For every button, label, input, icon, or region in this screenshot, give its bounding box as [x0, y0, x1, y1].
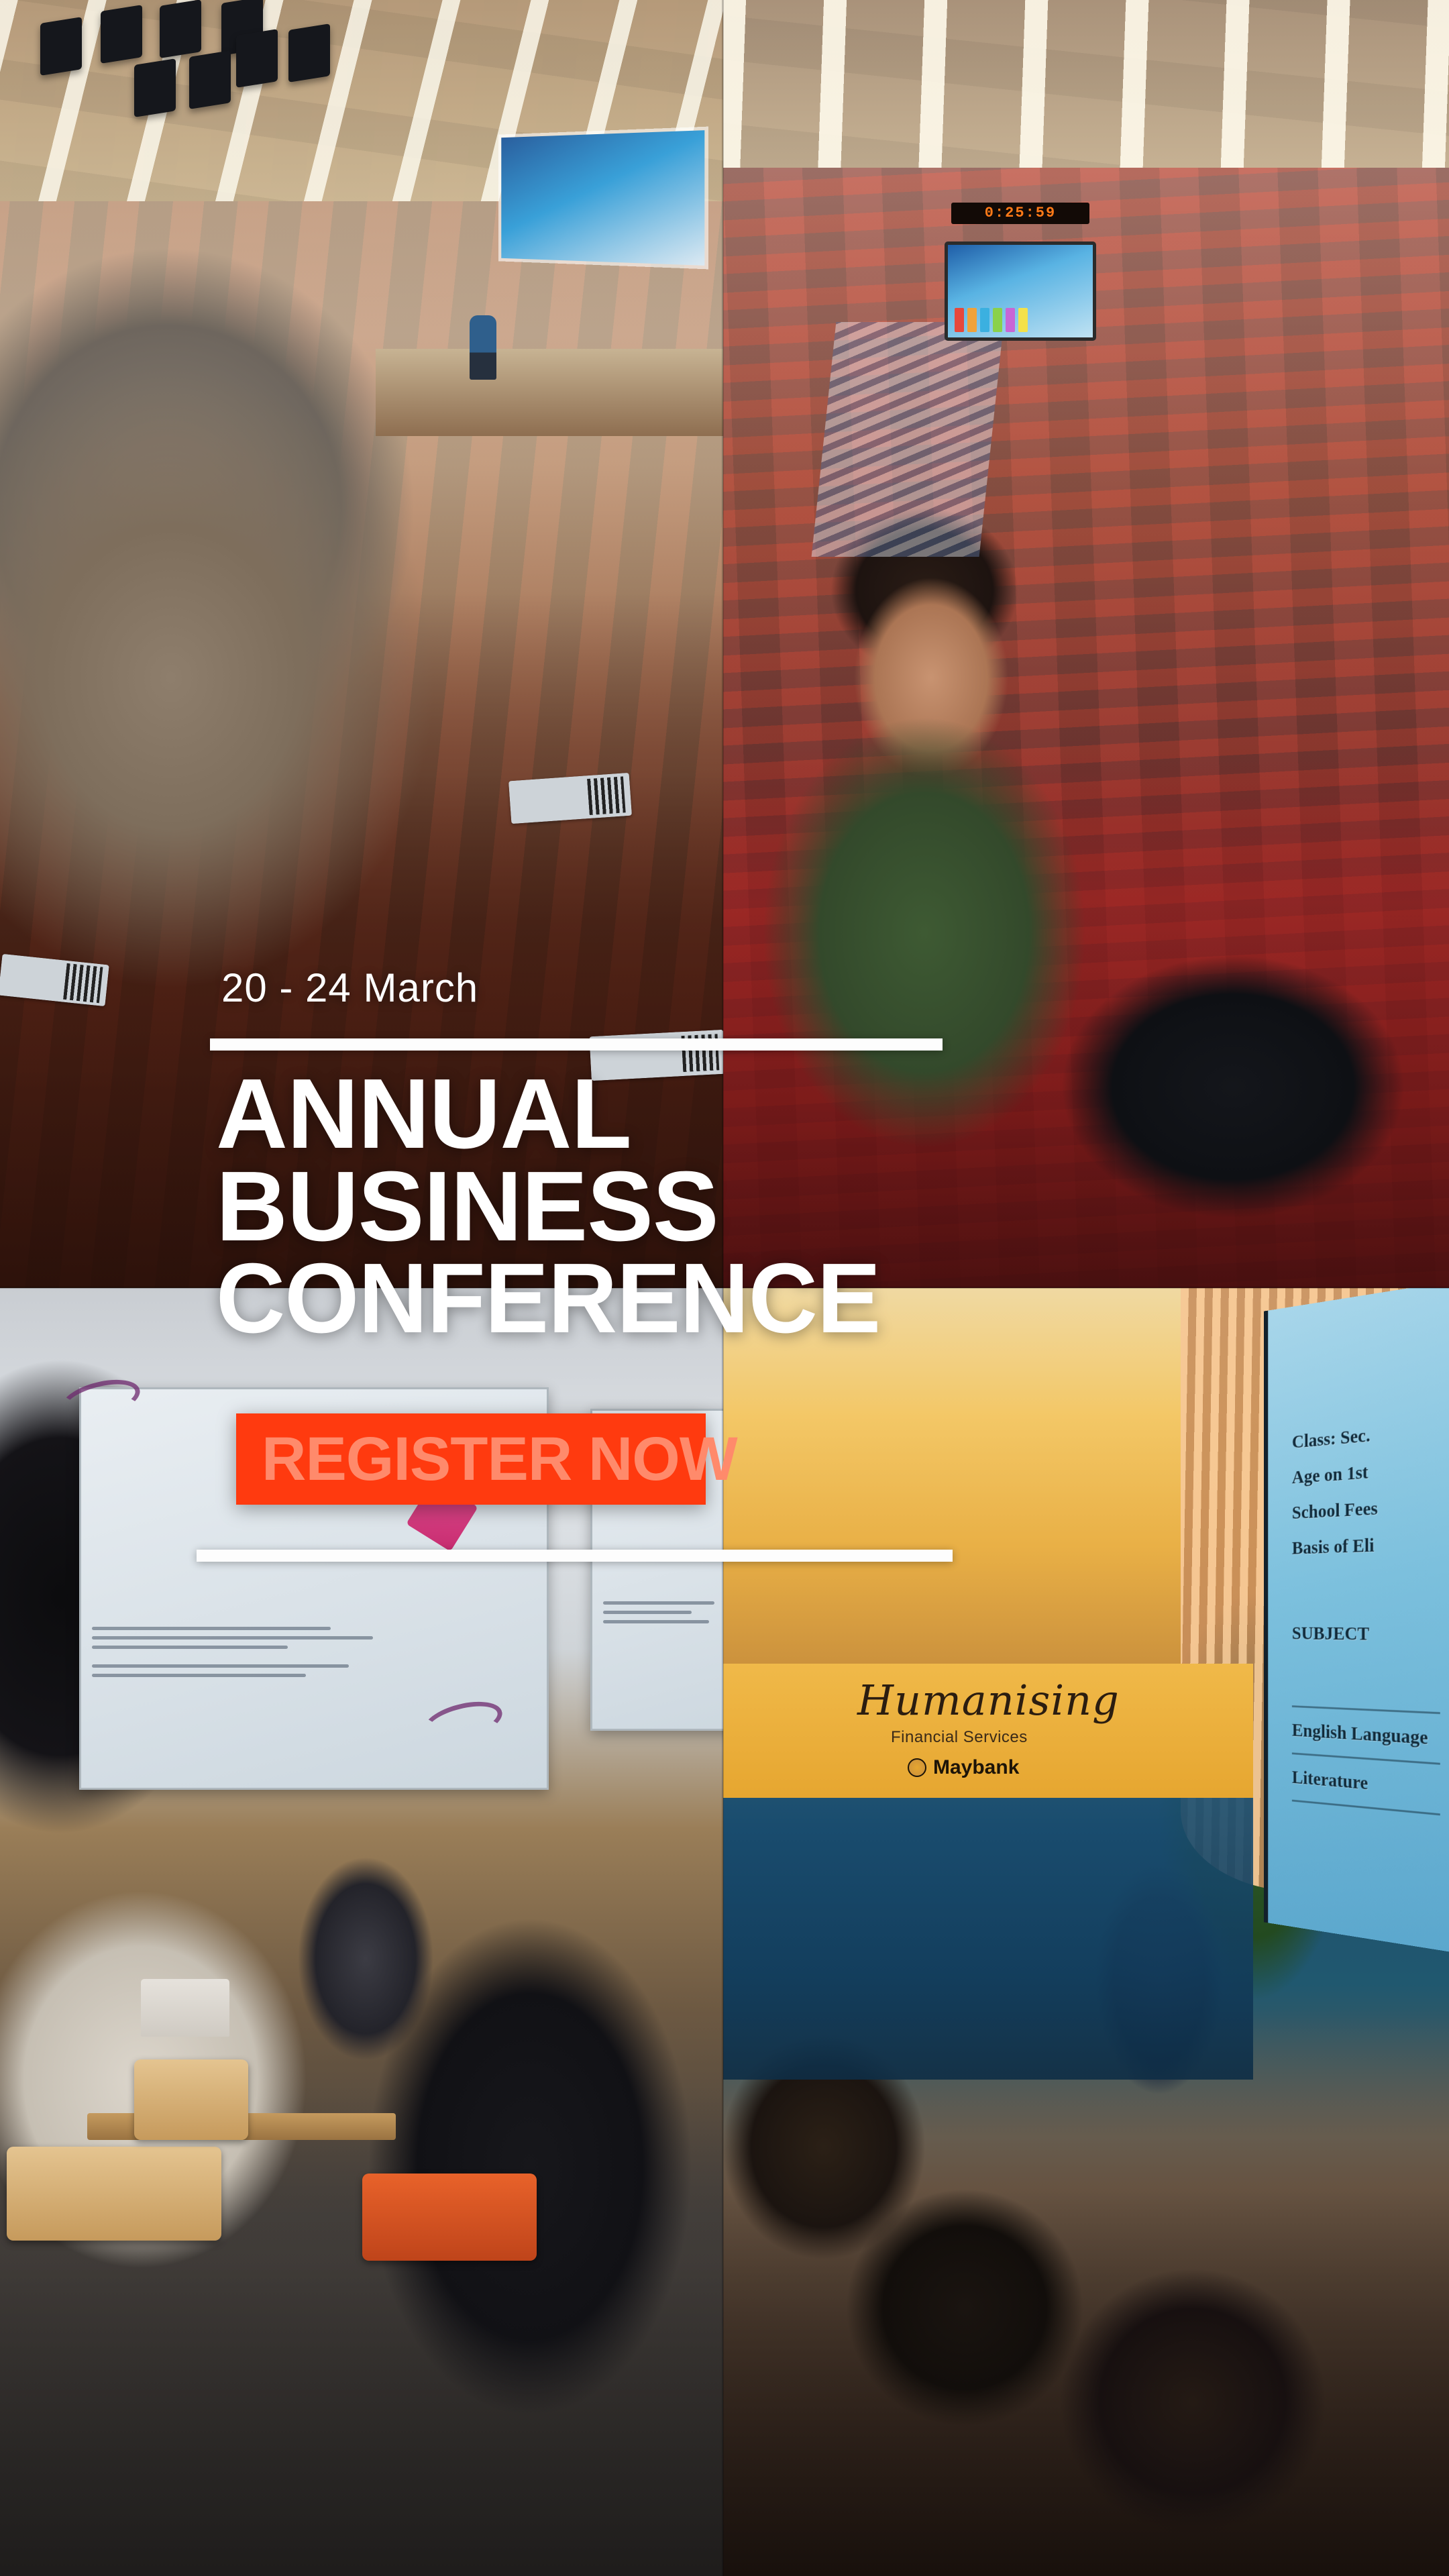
event-poster: 0:25:59 [0, 0, 1449, 2576]
seat-qr-card [508, 773, 632, 824]
ceiling-lights [723, 0, 1449, 168]
screen-heading: SUBJECT [1292, 1615, 1449, 1654]
page-title: ANNUAL BUSINESS CONFERENCE [216, 1068, 981, 1345]
title-line-3: CONFERENCE [216, 1252, 954, 1345]
stage-light-icon [288, 23, 330, 83]
stage-light-icon [101, 5, 142, 64]
slide-text-lines [603, 1595, 723, 1629]
signage-subtitle: Financial Services [891, 1728, 1028, 1747]
title-line-2: BUSINESS [216, 1161, 981, 1253]
register-now-button[interactable]: REGISTER NOW [236, 1413, 706, 1505]
aisle-stairs [812, 322, 1004, 557]
photo-bottom-right-maybank-branch: Humanising Financial Services Maybank Cl… [723, 1288, 1449, 2576]
stage-light-icon [189, 50, 231, 109]
stage-light-icon [160, 0, 201, 58]
presenter-laptop [141, 1979, 229, 2037]
branch-glass-wall [723, 1798, 1253, 2080]
stage-light-icon [236, 29, 278, 88]
screen-spacer [1292, 1651, 1449, 1707]
title-line-1: ANNUAL [216, 1068, 981, 1161]
tv-graphic-bars [955, 308, 1028, 332]
hall-tv-screen [945, 241, 1096, 341]
slide-text-lines [92, 1621, 398, 1683]
register-now-label: REGISTER NOW [262, 1428, 737, 1490]
maybank-wordmark: Maybank [933, 1756, 1019, 1779]
scoreboard-clock: 0:25:59 [951, 203, 1089, 224]
chair [134, 2059, 248, 2140]
stage-projection-screen [501, 130, 704, 266]
divider-bottom [197, 1550, 953, 1562]
screen-spacer [1292, 1562, 1449, 1615]
maybank-signage-band: Humanising Financial Services Maybank [723, 1664, 1253, 1798]
divider-top [210, 1038, 943, 1051]
stage-light-icon [40, 17, 82, 76]
screen-line: English Language [1292, 1712, 1449, 1758]
presentation-screen: Class: Sec. Age on 1st School Fees Basis… [1264, 1288, 1449, 1952]
stage-speaker-figure [470, 315, 496, 380]
event-date: 20 - 24 March [221, 965, 478, 1011]
signage-tagline: Humanising [857, 1676, 1120, 1725]
tiger-head-icon [908, 1758, 926, 1777]
chair [7, 2147, 221, 2241]
screen-line: Basis of Eli [1292, 1523, 1449, 1566]
chair [362, 2173, 537, 2261]
maybank-logo: Maybank [908, 1756, 1019, 1779]
stage-platform [376, 349, 723, 436]
stage-light-icon [134, 58, 176, 117]
